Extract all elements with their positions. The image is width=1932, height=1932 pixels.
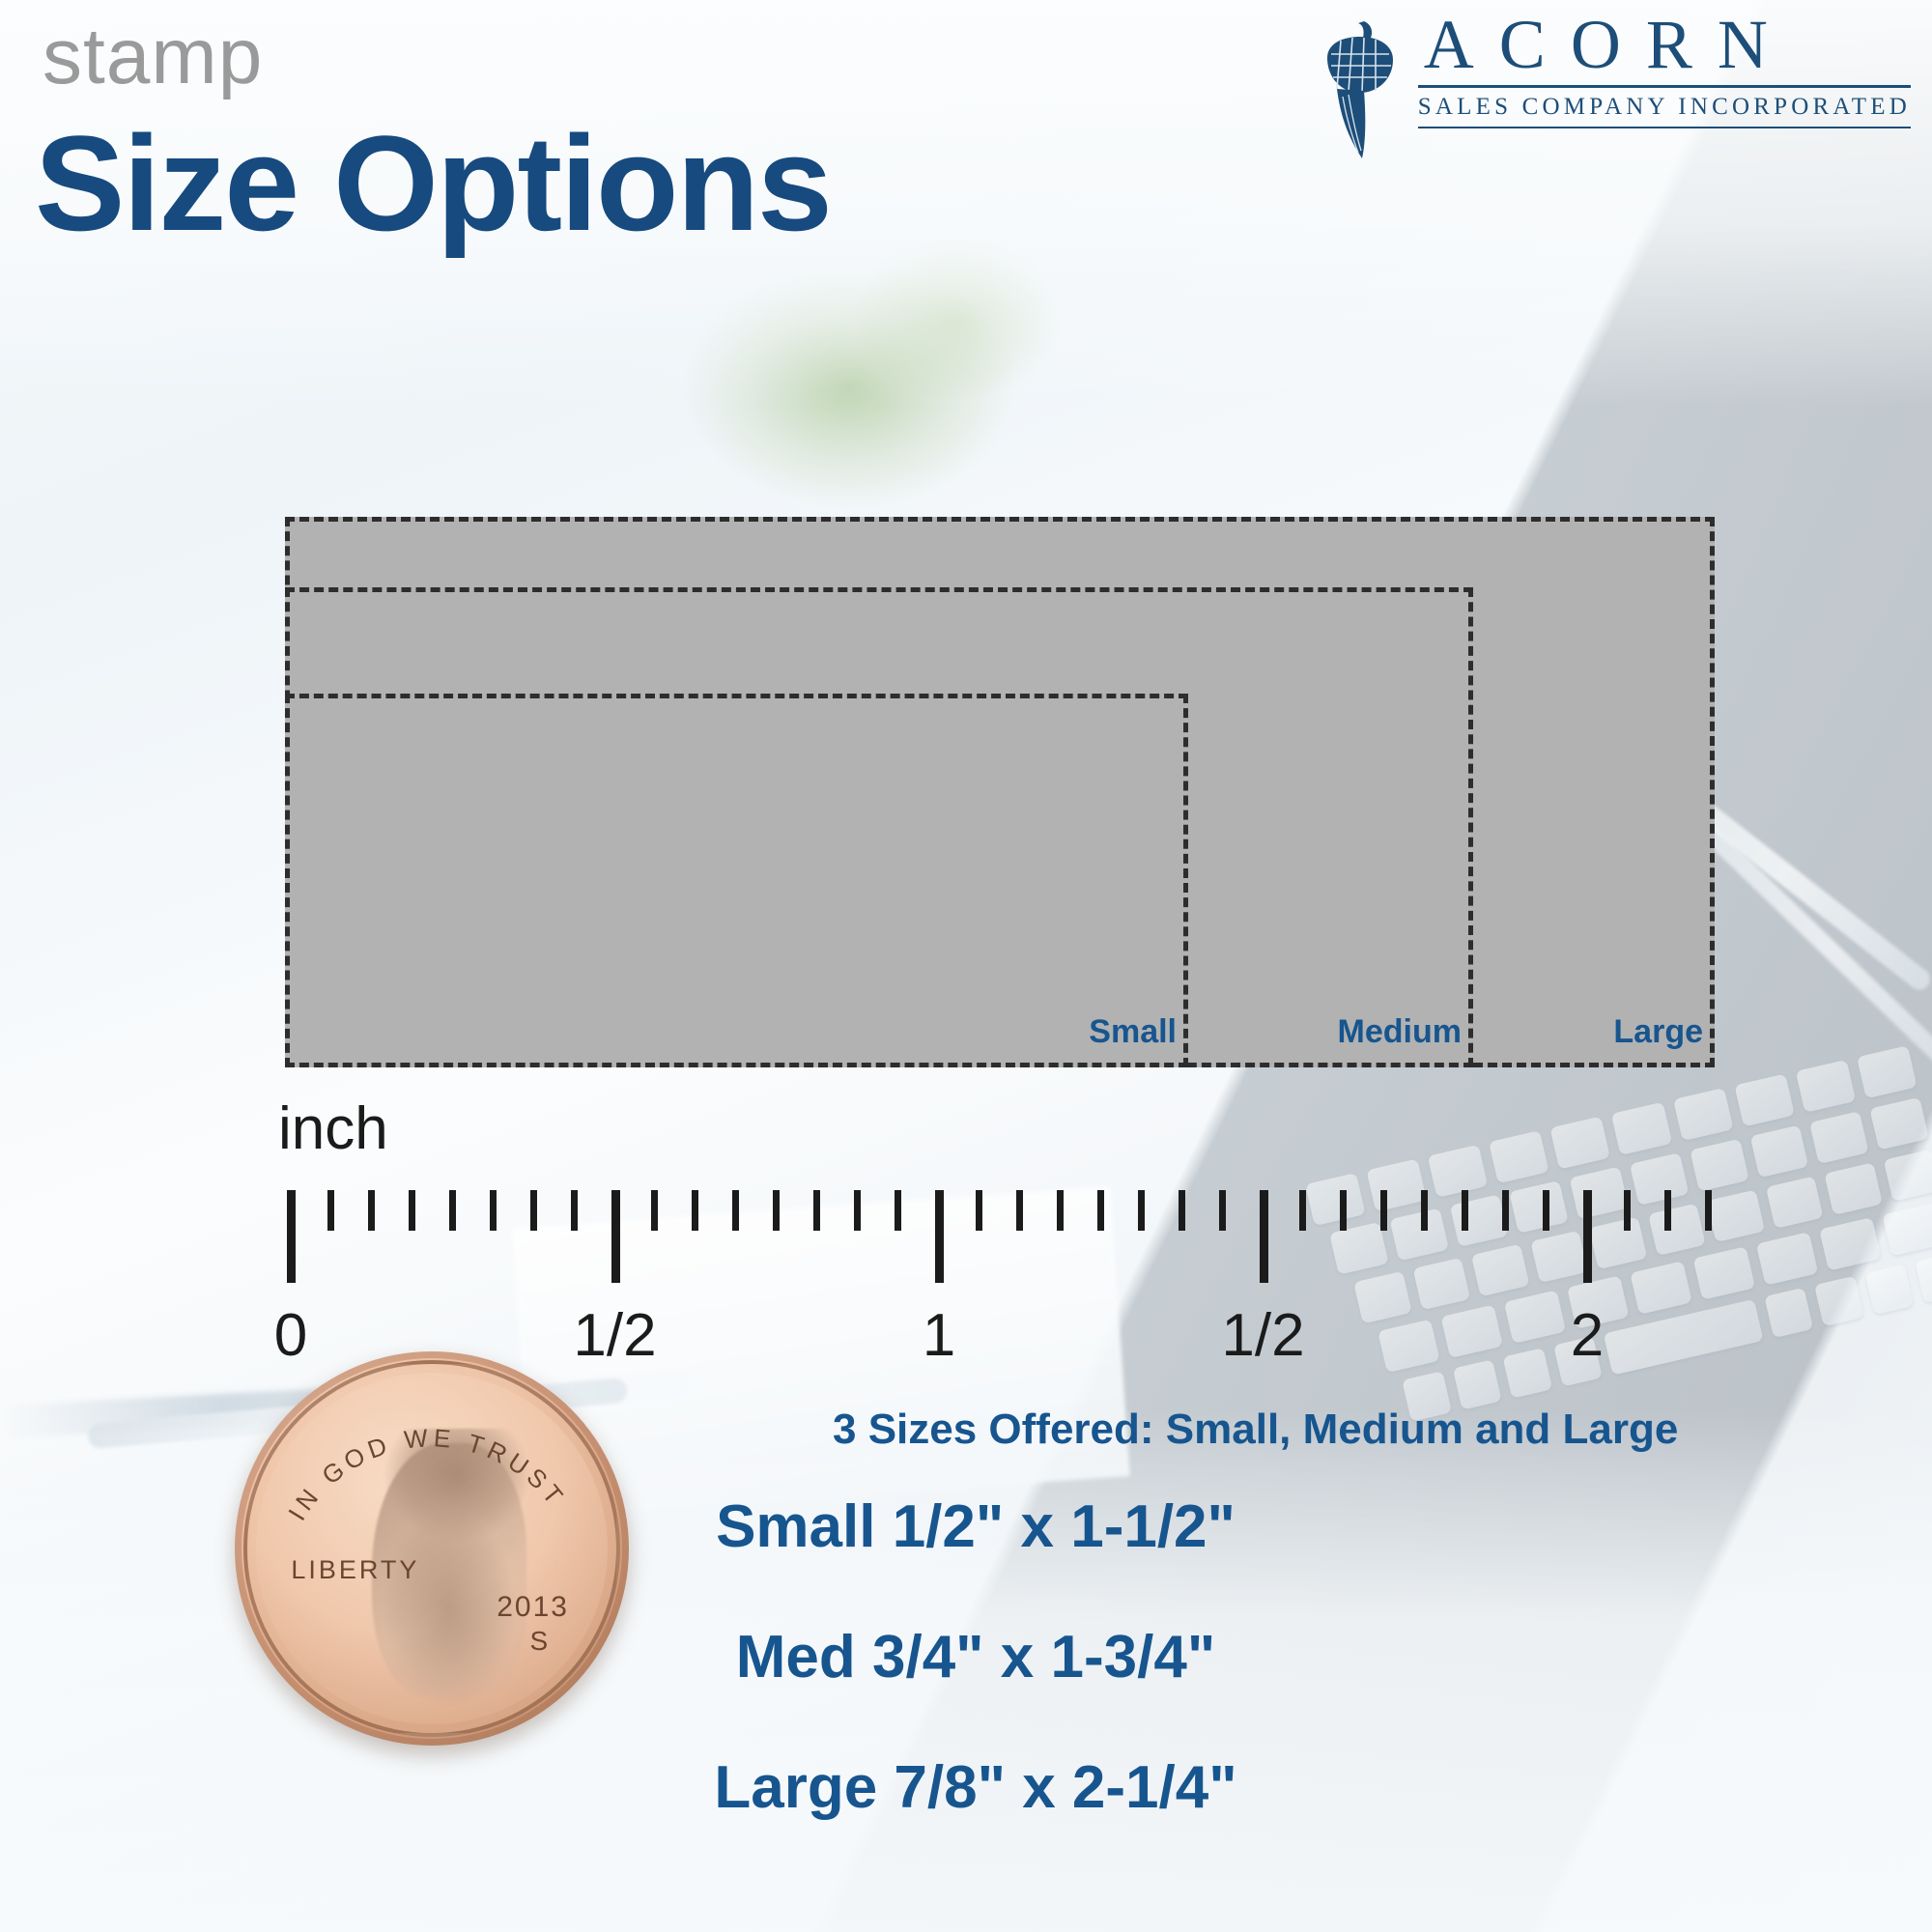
ruler-minor-tick [732,1190,739,1231]
ruler-minor-tick [1664,1190,1671,1231]
ruler-minor-tick [571,1190,578,1231]
ruler-minor-tick [1340,1190,1347,1231]
ruler-minor-tick [1179,1190,1185,1231]
ruler-label: 1/2 [1221,1306,1304,1366]
ruler-major-tick [287,1190,296,1283]
penny-coin: IN GOD WE TRUST LIBERTY 2013 S [235,1351,629,1746]
ruler-minor-tick [1502,1190,1509,1231]
coin-liberty-text: LIBERTY [291,1555,419,1585]
ruler-minor-tick [327,1190,334,1231]
ruler-minor-tick [813,1190,820,1231]
size-line-large: Large 7/8" x 2-1/4" [714,1753,1236,1822]
ruler-minor-tick [692,1190,698,1231]
coin-date-text: 2013 [497,1591,569,1624]
size-box-small [285,694,1188,1067]
ruler-minor-tick [1543,1190,1549,1231]
ruler-label: 1 [923,1306,955,1366]
ruler-minor-tick [409,1190,415,1231]
size-box-label-small: Small [1089,1013,1177,1051]
ruler-minor-tick [1462,1190,1468,1231]
ruler-minor-tick [1097,1190,1104,1231]
svg-text:IN GOD WE TRUST: IN GOD WE TRUST [282,1423,572,1525]
coin-motto-text: IN GOD WE TRUST [282,1423,572,1525]
ruler-minor-tick [1380,1190,1387,1231]
size-box-label-large: Large [1613,1013,1703,1051]
sizes-offered-heading: 3 Sizes Offered: Small, Medium and Large [833,1406,1678,1454]
coin-face: IN GOD WE TRUST LIBERTY 2013 S [256,1373,608,1724]
size-line-small: Small 1/2" x 1-1/2" [716,1492,1236,1561]
ruler-minor-tick [530,1190,537,1231]
ruler-major-tick [611,1190,620,1283]
ruler-minor-tick [976,1190,982,1231]
ruler-minor-tick [1421,1190,1428,1231]
ruler-minor-tick [1299,1190,1306,1231]
ruler-major-tick [1583,1190,1592,1283]
coin-mint-mark: S [529,1626,548,1657]
size-line-medium: Med 3/4" x 1-3/4" [736,1623,1215,1691]
ruler-minor-tick [490,1190,497,1231]
size-box-label-medium: Medium [1338,1013,1462,1051]
ruler-minor-tick [854,1190,861,1231]
ruler-minor-tick [1705,1190,1712,1231]
ruler-minor-tick [449,1190,456,1231]
ruler-minor-tick [773,1190,780,1231]
ruler-major-tick [1260,1190,1268,1283]
ruler-minor-tick [1016,1190,1023,1231]
coin-motto-arc: IN GOD WE TRUST [256,1373,608,1724]
ruler-minor-tick [651,1190,658,1231]
ruler-minor-tick [1138,1190,1145,1231]
ruler-minor-tick [1057,1190,1064,1231]
ruler-unit-label: inch [278,1099,388,1159]
ruler-minor-tick [895,1190,901,1231]
ruler-minor-tick [368,1190,375,1231]
ruler-minor-tick [1624,1190,1631,1231]
ruler-label: 2 [1571,1306,1604,1366]
ruler-major-tick [935,1190,944,1283]
ruler-minor-tick [1219,1190,1226,1231]
